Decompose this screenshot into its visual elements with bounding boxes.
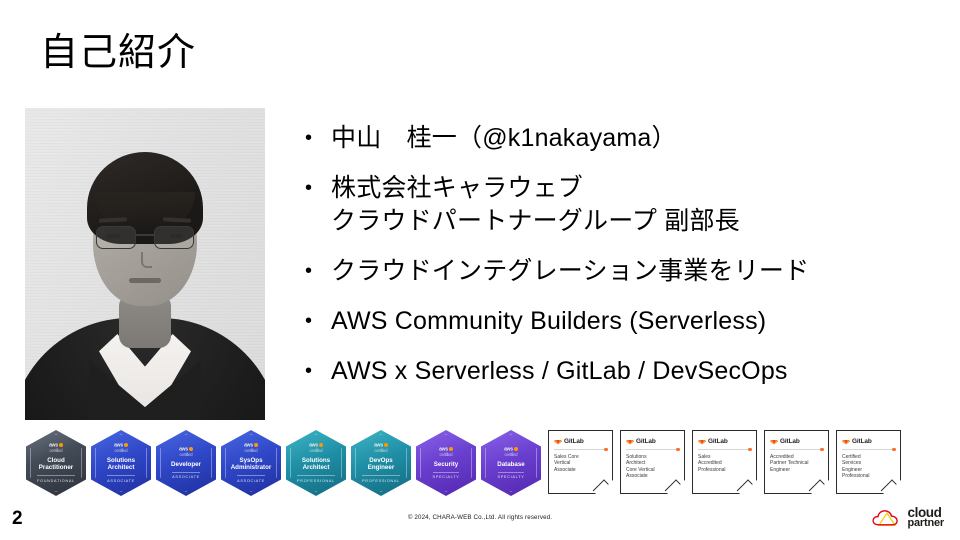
aws-logo-icon: aws certified [244,443,258,453]
aws-badge-developer-associate: aws certified Developer ASSOCIATE [156,430,216,496]
card-divider [626,449,679,450]
glasses-bridge [135,234,155,236]
badge-level: ASSOCIATE [237,475,265,483]
card-fold-corner [881,479,904,502]
aws-smile-icon [384,443,388,447]
gitlab-cert-title: Sales Core Vertical Associate [554,454,607,473]
gitlab-cert-solutions-architect-core-vertical-associate: GitLab Solutions Architect Core Vertical… [620,430,685,494]
aws-badge-database-specialty: aws certified Database SPECIALTY [481,430,541,496]
gitlab-cert-sales-accredited-professional: GitLab Sales Accredited Professional [692,430,757,494]
badge-title: DevOps Engineer [368,457,394,471]
list-item: • AWS Community Builders (Serverless) [305,305,945,338]
gitlab-cert-title: Certified Services Engineer Professional [842,454,895,480]
bullet-text-skills: AWS x Serverless / GitLab / DevSecOps [331,355,788,388]
gitlab-tanuki-icon [698,437,706,445]
card-divider [554,449,607,450]
accent-dot-icon [892,448,896,452]
aws-badge-solutions-architect-professional: aws certified Solutions Architect PROFES… [286,430,346,496]
aws-smile-icon [514,447,518,451]
card-divider [842,449,895,450]
card-fold-corner [737,479,760,502]
photo-eye-left [107,234,120,238]
badge-title: Security [434,461,458,468]
bullet-marker: • [305,305,331,337]
gitlab-brand-label: GitLab [708,438,728,445]
accent-dot-icon [676,448,680,452]
bullet-marker: • [305,355,331,387]
aws-logo-icon: aws certified [439,447,453,457]
aws-badge-solutions-architect-associate: aws certified Solutions Architect ASSOCI… [91,430,151,496]
gitlab-card-header: GitLab [626,437,679,445]
profile-photo [25,108,265,420]
aws-badge-security-specialty: aws certified Security SPECIALTY [416,430,476,496]
aws-smile-icon [254,443,258,447]
gitlab-card-header: GitLab [554,437,607,445]
badge-title: Solutions Architect [302,457,330,471]
gitlab-cert-title: Sales Accredited Professional [698,454,751,473]
accent-dot-icon [820,448,824,452]
card-fold-corner [665,479,688,502]
aws-logo-icon: aws certified [114,443,128,453]
aws-logo-icon: aws certified [504,447,518,457]
bullet-text-name: 中山 桂一（@k1nakayama） [331,122,677,155]
page-title: 自己紹介 [40,30,196,76]
badge-level: SPECIALTY [498,472,525,480]
card-divider [770,449,823,450]
card-fold-corner [809,479,832,502]
badge-level: PROFESSIONAL [362,475,400,483]
list-item: • 株式会社キャラウェブ クラウドパートナーグループ 副部長 [305,172,945,238]
list-item: • 中山 桂一（@k1nakayama） [305,122,945,155]
card-divider [698,449,751,450]
gitlab-tanuki-icon [770,437,778,445]
gitlab-card-header: GitLab [842,437,895,445]
gitlab-tanuki-icon [842,437,850,445]
accent-dot-icon [748,448,752,452]
aws-badge-sysops-administrator-associate: aws certified SysOps Administrator ASSOC… [221,430,281,496]
gitlab-cert-title: Accredited Partner Technical Engineer [770,454,823,473]
gitlab-cert-sales-core-vertical-associate: GitLab Sales Core Vertical Associate [548,430,613,494]
gitlab-brand-label: GitLab [852,438,872,445]
gitlab-certification-cards: GitLab Sales Core Vertical Associate Git… [548,430,901,494]
gitlab-cert-accredited-partner-technical-engineer: GitLab Accredited Partner Technical Engi… [764,430,829,494]
gitlab-tanuki-icon [554,437,562,445]
list-item: • AWS x Serverless / GitLab / DevSecOps [305,355,945,388]
gitlab-cert-certified-services-engineer-professional: GitLab Certified Services Engineer Profe… [836,430,901,494]
photo-mouth [129,278,161,283]
gitlab-tanuki-icon [626,437,634,445]
badge-level: ASSOCIATE [172,472,200,480]
badge-level: SPECIALTY [433,472,460,480]
aws-smile-icon [59,443,63,447]
bullet-text-role: クラウドインテグレーション事業をリード [331,255,809,288]
badge-level: ASSOCIATE [107,475,135,483]
bullet-marker: • [305,172,331,204]
gitlab-card-header: GitLab [770,437,823,445]
cloud-icon [871,506,903,530]
photo-nose [141,252,152,268]
bullet-marker: • [305,255,331,287]
brand-line-2: partner [908,518,945,529]
aws-smile-icon [319,443,323,447]
aws-smile-icon [189,447,193,451]
aws-logo-icon: aws certified [49,443,63,453]
bullet-marker: • [305,122,331,154]
aws-badge-cloud-practitioner: aws certified Cloud Practitioner FOUNDAT… [26,430,86,496]
badge-title: Solutions Architect [107,457,135,471]
gitlab-brand-label: GitLab [780,438,800,445]
badge-level: FOUNDATIONAL [37,475,75,483]
bullet-text-community: AWS Community Builders (Serverless) [331,305,766,338]
aws-logo-icon: aws certified [309,443,323,453]
gitlab-brand-label: GitLab [636,438,656,445]
accent-dot-icon [604,448,608,452]
aws-smile-icon [449,447,453,451]
copyright-notice: © 2024, CHARA-WEB Co.,Ltd. All rights re… [0,514,960,521]
brand-logo: cloud partner [871,506,945,530]
brand-wordmark: cloud partner [908,507,945,529]
aws-certification-badges: aws certified Cloud Practitioner FOUNDAT… [26,430,541,496]
badge-title: Developer [171,461,201,468]
aws-badge-devops-engineer-professional: aws certified DevOps Engineer PROFESSION… [351,430,411,496]
badge-title: Cloud Practitioner [39,457,73,471]
profile-bullet-list: • 中山 桂一（@k1nakayama） • 株式会社キャラウェブ クラウドパー… [305,122,945,405]
gitlab-card-header: GitLab [698,437,751,445]
badge-title: SysOps Administrator [231,457,272,471]
aws-logo-icon: aws certified [374,443,388,453]
gitlab-cert-title: Solutions Architect Core Vertical Associ… [626,454,679,480]
list-item: • クラウドインテグレーション事業をリード [305,255,945,288]
card-fold-corner [593,479,616,502]
gitlab-brand-label: GitLab [564,438,584,445]
badge-level: PROFESSIONAL [297,475,335,483]
aws-smile-icon [124,443,128,447]
bullet-text-company: 株式会社キャラウェブ クラウドパートナーグループ 副部長 [331,172,740,238]
photo-eye-right [170,234,183,238]
badge-title: Database [497,461,525,468]
aws-logo-icon: aws certified [179,447,193,457]
